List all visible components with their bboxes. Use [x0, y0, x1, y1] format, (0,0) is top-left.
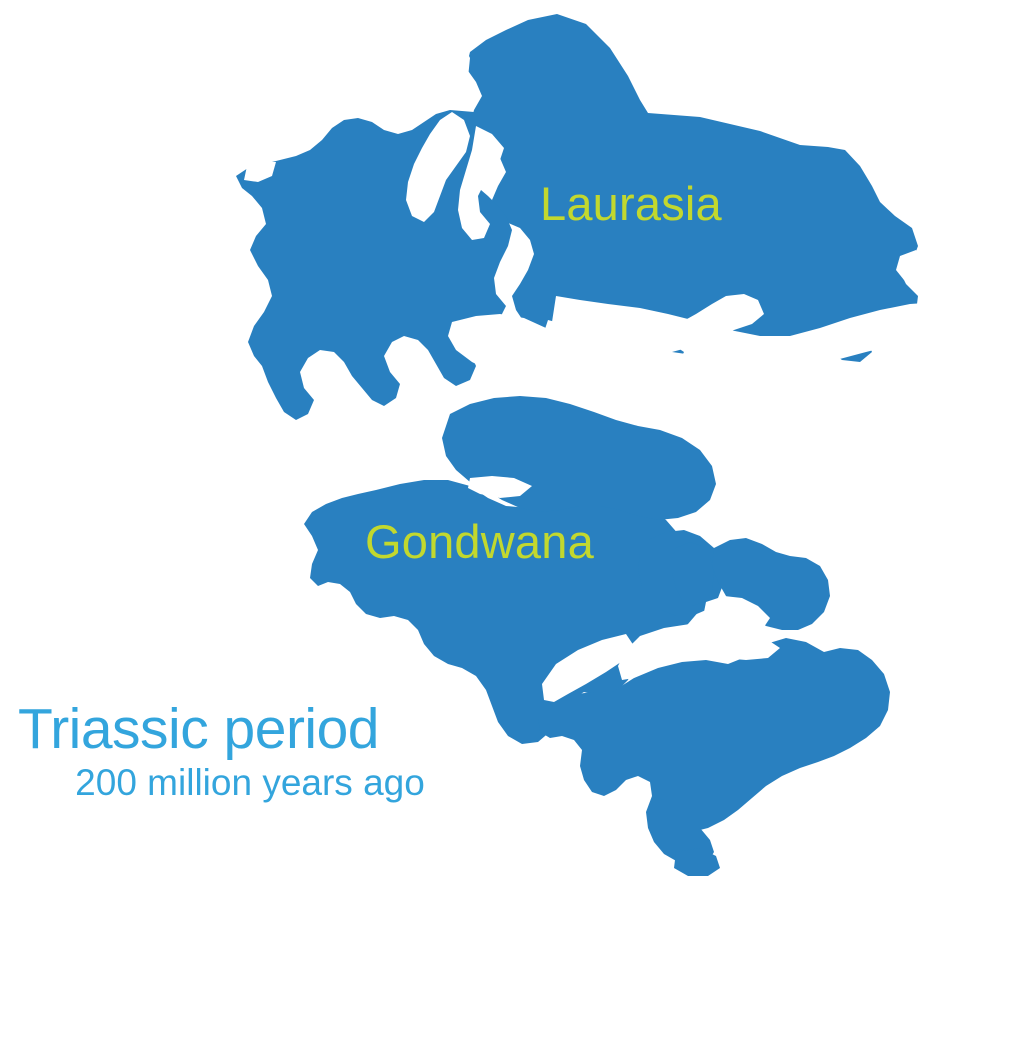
- pangaea-map-graphic: [0, 0, 1030, 1064]
- map-figure: Laurasia Gondwana Triassic period 200 mi…: [0, 0, 1030, 1064]
